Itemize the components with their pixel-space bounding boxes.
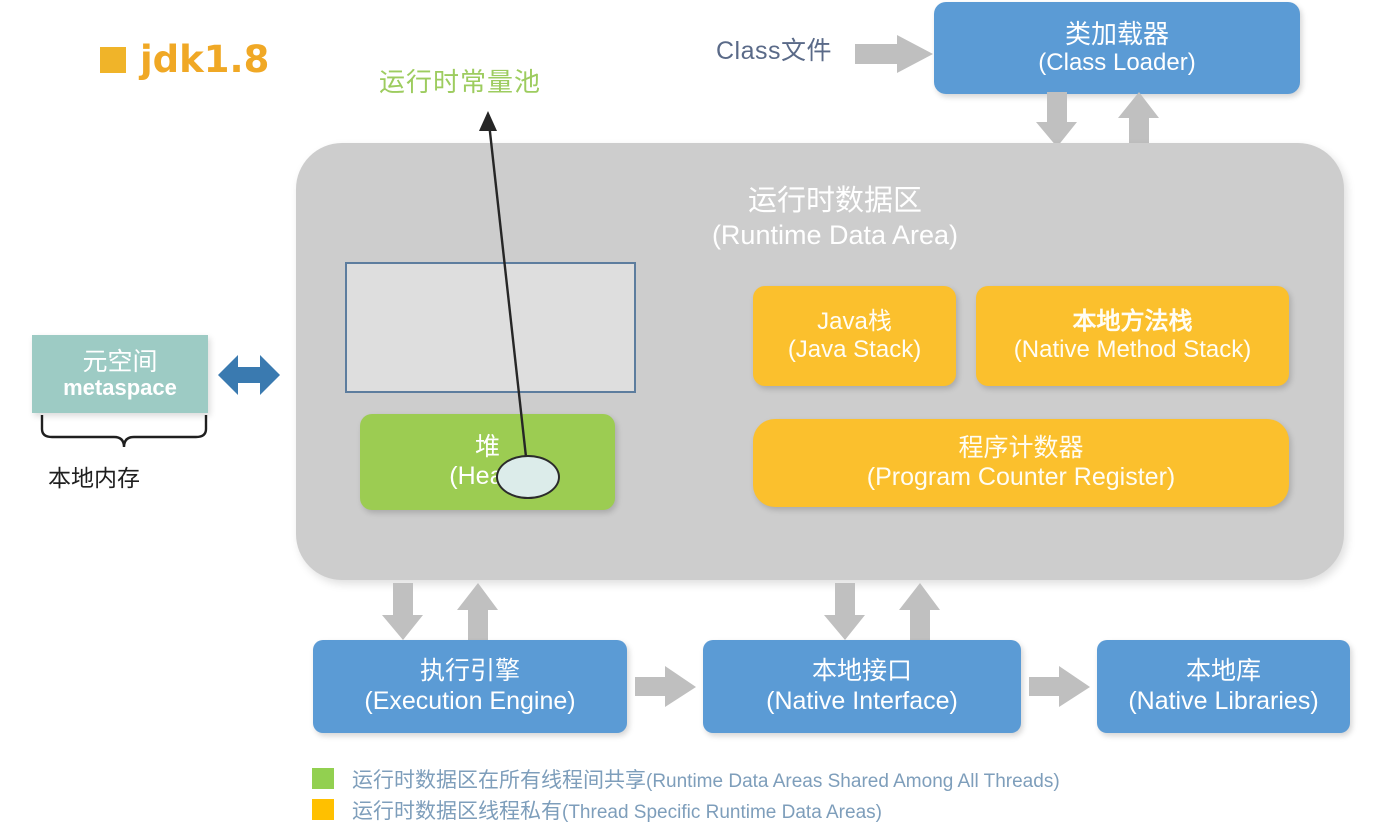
execution-engine-label-cn: 执行引擎	[420, 657, 520, 687]
native-memory-label: 本地内存	[48, 459, 140, 493]
double-arrow-icon-metaspace	[218, 351, 280, 399]
native-interface-box[interactable]: 本地接口 (Native Interface)	[703, 640, 1021, 733]
runtime-data-area-title-en: (Runtime Data Area)	[680, 219, 990, 251]
class-loader-label-en: (Class Loader)	[1038, 49, 1195, 77]
legend-label-shared-en: (Runtime Data Areas Shared Among All Thr…	[646, 771, 1060, 792]
legend: 运行时数据区在所有线程间共享(Runtime Data Areas Shared…	[312, 763, 1060, 825]
title-label: jdk1.8	[140, 38, 269, 81]
java-stack-box[interactable]: Java栈 (Java Stack)	[753, 286, 956, 386]
native-libraries-label-cn: 本地库	[1186, 657, 1261, 687]
ellipse-marker-constant-pool	[496, 455, 560, 499]
native-method-stack-label-en: (Native Method Stack)	[1014, 336, 1251, 364]
native-interface-label-cn: 本地接口	[812, 657, 912, 687]
arrow-right-icon-class-file	[855, 35, 935, 75]
program-counter-register-box[interactable]: 程序计数器 (Program Counter Register)	[753, 419, 1289, 507]
arrow-right-icon-interface-to-libraries	[1029, 666, 1091, 708]
program-counter-label-en: (Program Counter Register)	[867, 463, 1175, 493]
curly-brace-icon-native-memory	[38, 413, 210, 457]
arrow-down-icon-runtime-to-native-interface	[824, 583, 866, 641]
class-file-label: Class文件	[716, 31, 832, 67]
legend-label-private-en: (Thread Specific Runtime Data Areas)	[562, 802, 882, 823]
legend-swatch-shared	[312, 768, 334, 789]
metaspace-box[interactable]: 元空间 metaspace	[32, 335, 208, 413]
native-interface-label-en: (Native Interface)	[766, 687, 958, 717]
legend-label-private-cn: 运行时数据区线程私有	[352, 800, 562, 823]
diagram-title: jdk1.8	[100, 38, 269, 81]
metaspace-label-cn: 元空间	[82, 348, 157, 376]
arrow-up-icon-native-interface-to-runtime	[899, 583, 941, 641]
jvm-architecture-diagram: jdk1.8 Class文件 类加载器 (Class Loader) 运行时数据…	[0, 0, 1388, 826]
legend-label-shared-cn: 运行时数据区在所有线程间共享	[352, 769, 646, 792]
java-stack-label-cn: Java栈	[817, 308, 892, 336]
runtime-data-area-title-cn: 运行时数据区	[680, 184, 990, 219]
constant-pool-pointer-line	[470, 105, 560, 480]
arrow-up-icon-runtime-to-classloader	[1118, 92, 1160, 148]
legend-row-shared: 运行时数据区在所有线程间共享(Runtime Data Areas Shared…	[312, 763, 1060, 794]
title-bullet-square	[100, 47, 126, 73]
class-loader-box[interactable]: 类加载器 (Class Loader)	[934, 2, 1300, 94]
class-loader-label-cn: 类加载器	[1065, 19, 1169, 50]
metaspace-label-en: metaspace	[63, 376, 177, 401]
legend-label-shared: 运行时数据区在所有线程间共享(Runtime Data Areas Shared…	[352, 764, 1060, 794]
execution-engine-box[interactable]: 执行引擎 (Execution Engine)	[313, 640, 627, 733]
native-libraries-box[interactable]: 本地库 (Native Libraries)	[1097, 640, 1350, 733]
java-stack-label-en: (Java Stack)	[788, 336, 921, 364]
execution-engine-label-en: (Execution Engine)	[364, 687, 575, 717]
native-method-stack-label-cn: 本地方法栈	[1073, 308, 1193, 336]
runtime-data-area-title: 运行时数据区 (Runtime Data Area)	[680, 184, 990, 251]
arrow-down-icon-classloader-to-runtime	[1036, 92, 1078, 148]
legend-row-private: 运行时数据区线程私有(Thread Specific Runtime Data …	[312, 794, 1060, 825]
constant-pool-label: 运行时常量池	[379, 62, 541, 99]
arrow-down-icon-runtime-to-execution-engine	[382, 583, 424, 641]
arrow-right-icon-engine-to-interface	[635, 666, 697, 708]
arrow-up-icon-execution-engine-to-runtime	[457, 583, 499, 641]
native-libraries-label-en: (Native Libraries)	[1128, 687, 1318, 717]
legend-swatch-private	[312, 799, 334, 820]
program-counter-label-cn: 程序计数器	[958, 434, 1083, 464]
legend-label-private: 运行时数据区线程私有(Thread Specific Runtime Data …	[352, 795, 882, 825]
native-method-stack-box[interactable]: 本地方法栈 (Native Method Stack)	[976, 286, 1289, 386]
